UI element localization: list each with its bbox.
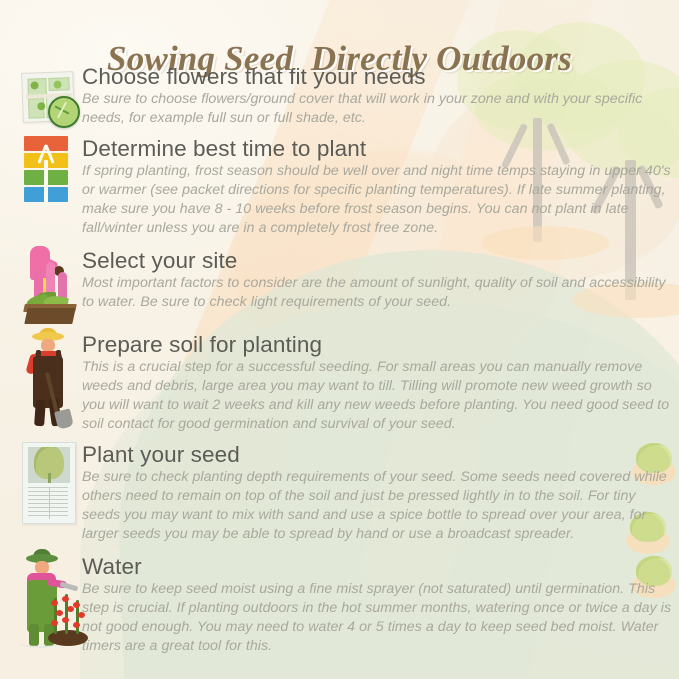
step-item-prepare-soil: Prepare soil for planting This is a cruc… [10,330,672,434]
flower-bud [51,620,58,626]
flower-bud [51,600,58,606]
flower-bud [78,612,85,618]
step-heading: Plant your seed [82,442,672,467]
packet-text-line [28,511,68,512]
compass-icon [48,96,80,128]
flower-bud [62,617,69,623]
packet-text-line [28,499,68,500]
packet-text-line [28,491,68,492]
flower-bud [73,622,80,628]
step-heading: Prepare soil for planting [82,332,672,357]
step-item-determine-time: Determine best time to plant If spring p… [10,134,672,238]
mist-sprayer-wand [60,582,79,592]
step-heading: Choose flowers that fit your needs [82,64,672,89]
flower-bud [62,596,69,602]
step-heading: Water [82,554,672,579]
step-description: If spring planting, frost season should … [82,162,672,238]
step-description: Be sure to check planting depth requirem… [82,468,672,544]
step-body: Select your site Most important factors … [82,246,672,312]
step-description: Most important factors to consider are t… [82,274,672,312]
step-item-plant-seed: Plant your seed Be sure to check plantin… [10,440,672,544]
step-description: Be sure to keep seed moist using a fine … [82,580,672,656]
four-seasons-icon [24,136,72,208]
flower-bud [56,610,63,616]
seed-packet-body [22,442,76,524]
planter-box [24,308,75,324]
step-body: Choose flowers that fit your needs Be su… [82,62,672,128]
seasons-tree [41,138,50,204]
packet-text-line [28,487,68,488]
packet-text-line [28,503,68,504]
infographic-poster: Sowing Seed Directly Outdoors [0,0,679,679]
packet-column-divider [49,487,50,519]
seasons-tree-trunk [44,160,48,204]
step-description: This is a crucial step for a successful … [82,358,672,434]
step-icon-slot [10,134,82,210]
step-body: Prepare soil for planting This is a cruc… [82,330,672,434]
step-body: Water Be sure to keep seed moist using a… [82,552,672,656]
packet-text-line [28,507,68,508]
step-heading: Select your site [82,248,672,273]
seed-packet-photo [28,447,70,483]
step-body: Determine best time to plant If spring p… [82,134,672,238]
step-icon-slot [10,62,82,138]
step-body: Plant your seed Be sure to check plantin… [82,440,672,544]
flower-planter-icon [16,246,82,330]
gardener-shovel-icon [20,332,82,430]
step-icon-slot [10,552,82,628]
flower-bud [73,602,80,608]
step-icon-slot [10,440,82,516]
step-description: Be sure to choose flowers/ground cover t… [82,90,672,128]
packet-plant-stem [48,473,51,483]
step-icon-slot [10,330,82,406]
seed-packet-icon [22,442,80,526]
shovel-blade [54,408,74,429]
step-item-water: Water Be sure to keep seed moist using a… [10,552,672,656]
gardener-watering-icon [14,554,88,648]
step-heading: Determine best time to plant [82,136,672,161]
gardener-leg [34,400,46,427]
packet-text-line [28,495,68,496]
garden-plan-icon [18,68,80,130]
step-item-choose-flowers: Choose flowers that fit your needs Be su… [10,62,672,138]
packet-text-line [28,515,68,516]
step-item-select-site: Select your site Most important factors … [10,246,672,322]
step-icon-slot [10,246,82,322]
